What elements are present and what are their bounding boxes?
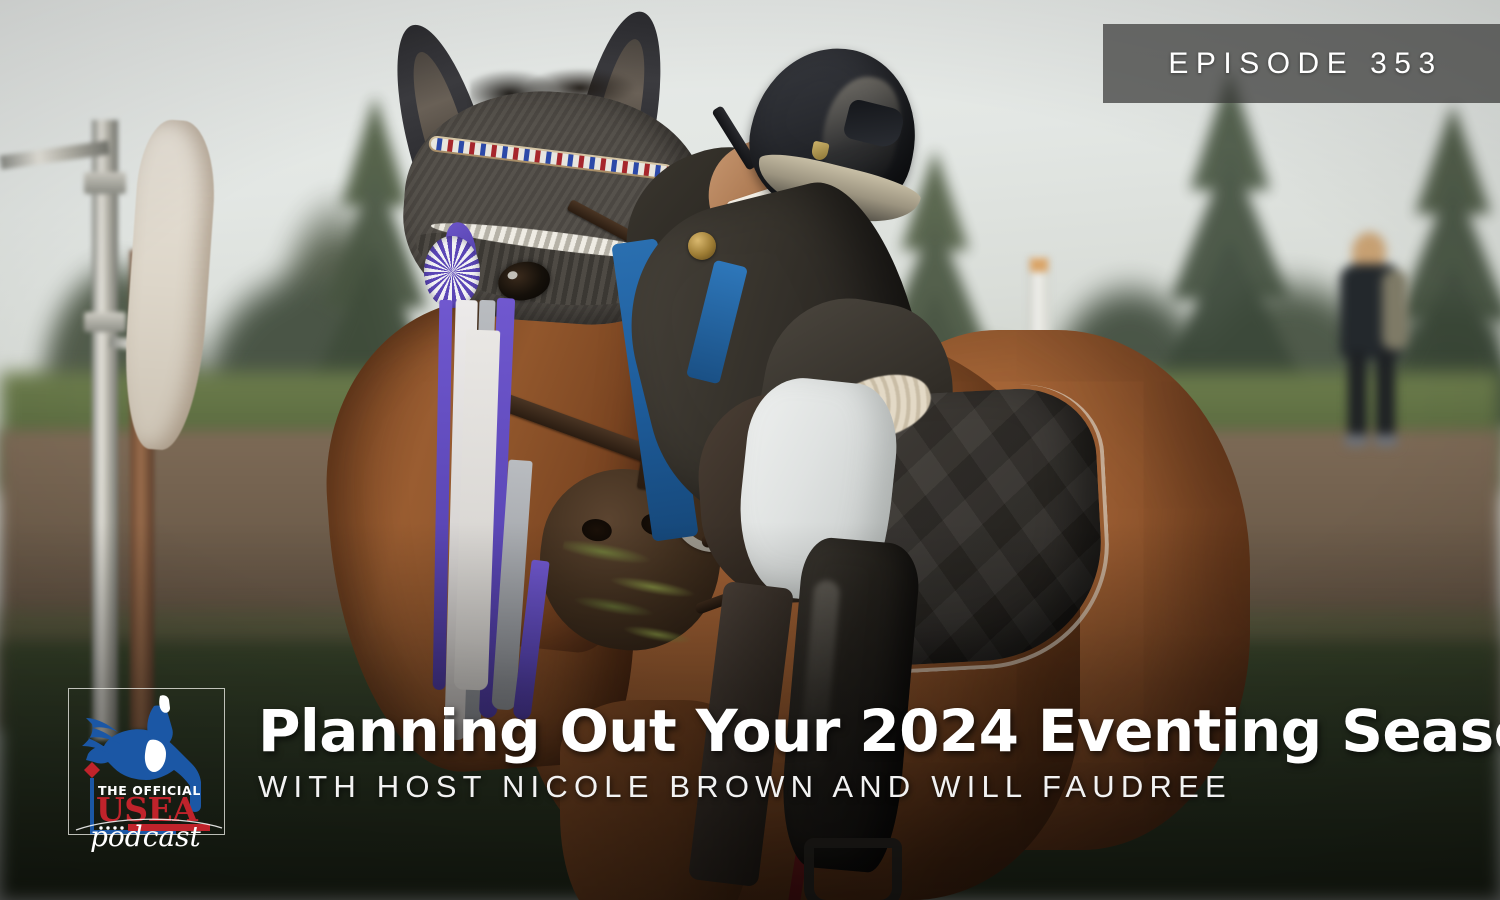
logo-flag-icon <box>84 762 100 778</box>
stock-pin <box>688 232 716 260</box>
pole-collar <box>84 312 126 332</box>
episode-badge: EPISODE 353 <box>1103 24 1500 103</box>
episode-cover-art: EPISODE 353 Planning Out Your 2024 Event… <box>0 0 1500 900</box>
logo-line2: USEA <box>96 790 198 829</box>
episode-badge-label: EPISODE 353 <box>1160 47 1442 81</box>
usea-podcast-logo: THE OFFICIAL USEA <box>68 688 225 835</box>
episode-title: Planning Out Your 2024 Eventing Season <box>258 700 1458 762</box>
pole-collar <box>84 172 126 194</box>
stirrup-iron <box>804 838 902 900</box>
title-block: Planning Out Your 2024 Eventing Season W… <box>258 700 1458 808</box>
blurred-spectator <box>1340 232 1410 452</box>
jump-cup <box>1030 258 1048 272</box>
metal-pole <box>92 120 118 740</box>
episode-subtitle: WITH HOST NICOLE BROWN AND WILL FAUDREE <box>258 766 1458 808</box>
logo-graphic: THE OFFICIAL USEA <box>68 688 225 835</box>
